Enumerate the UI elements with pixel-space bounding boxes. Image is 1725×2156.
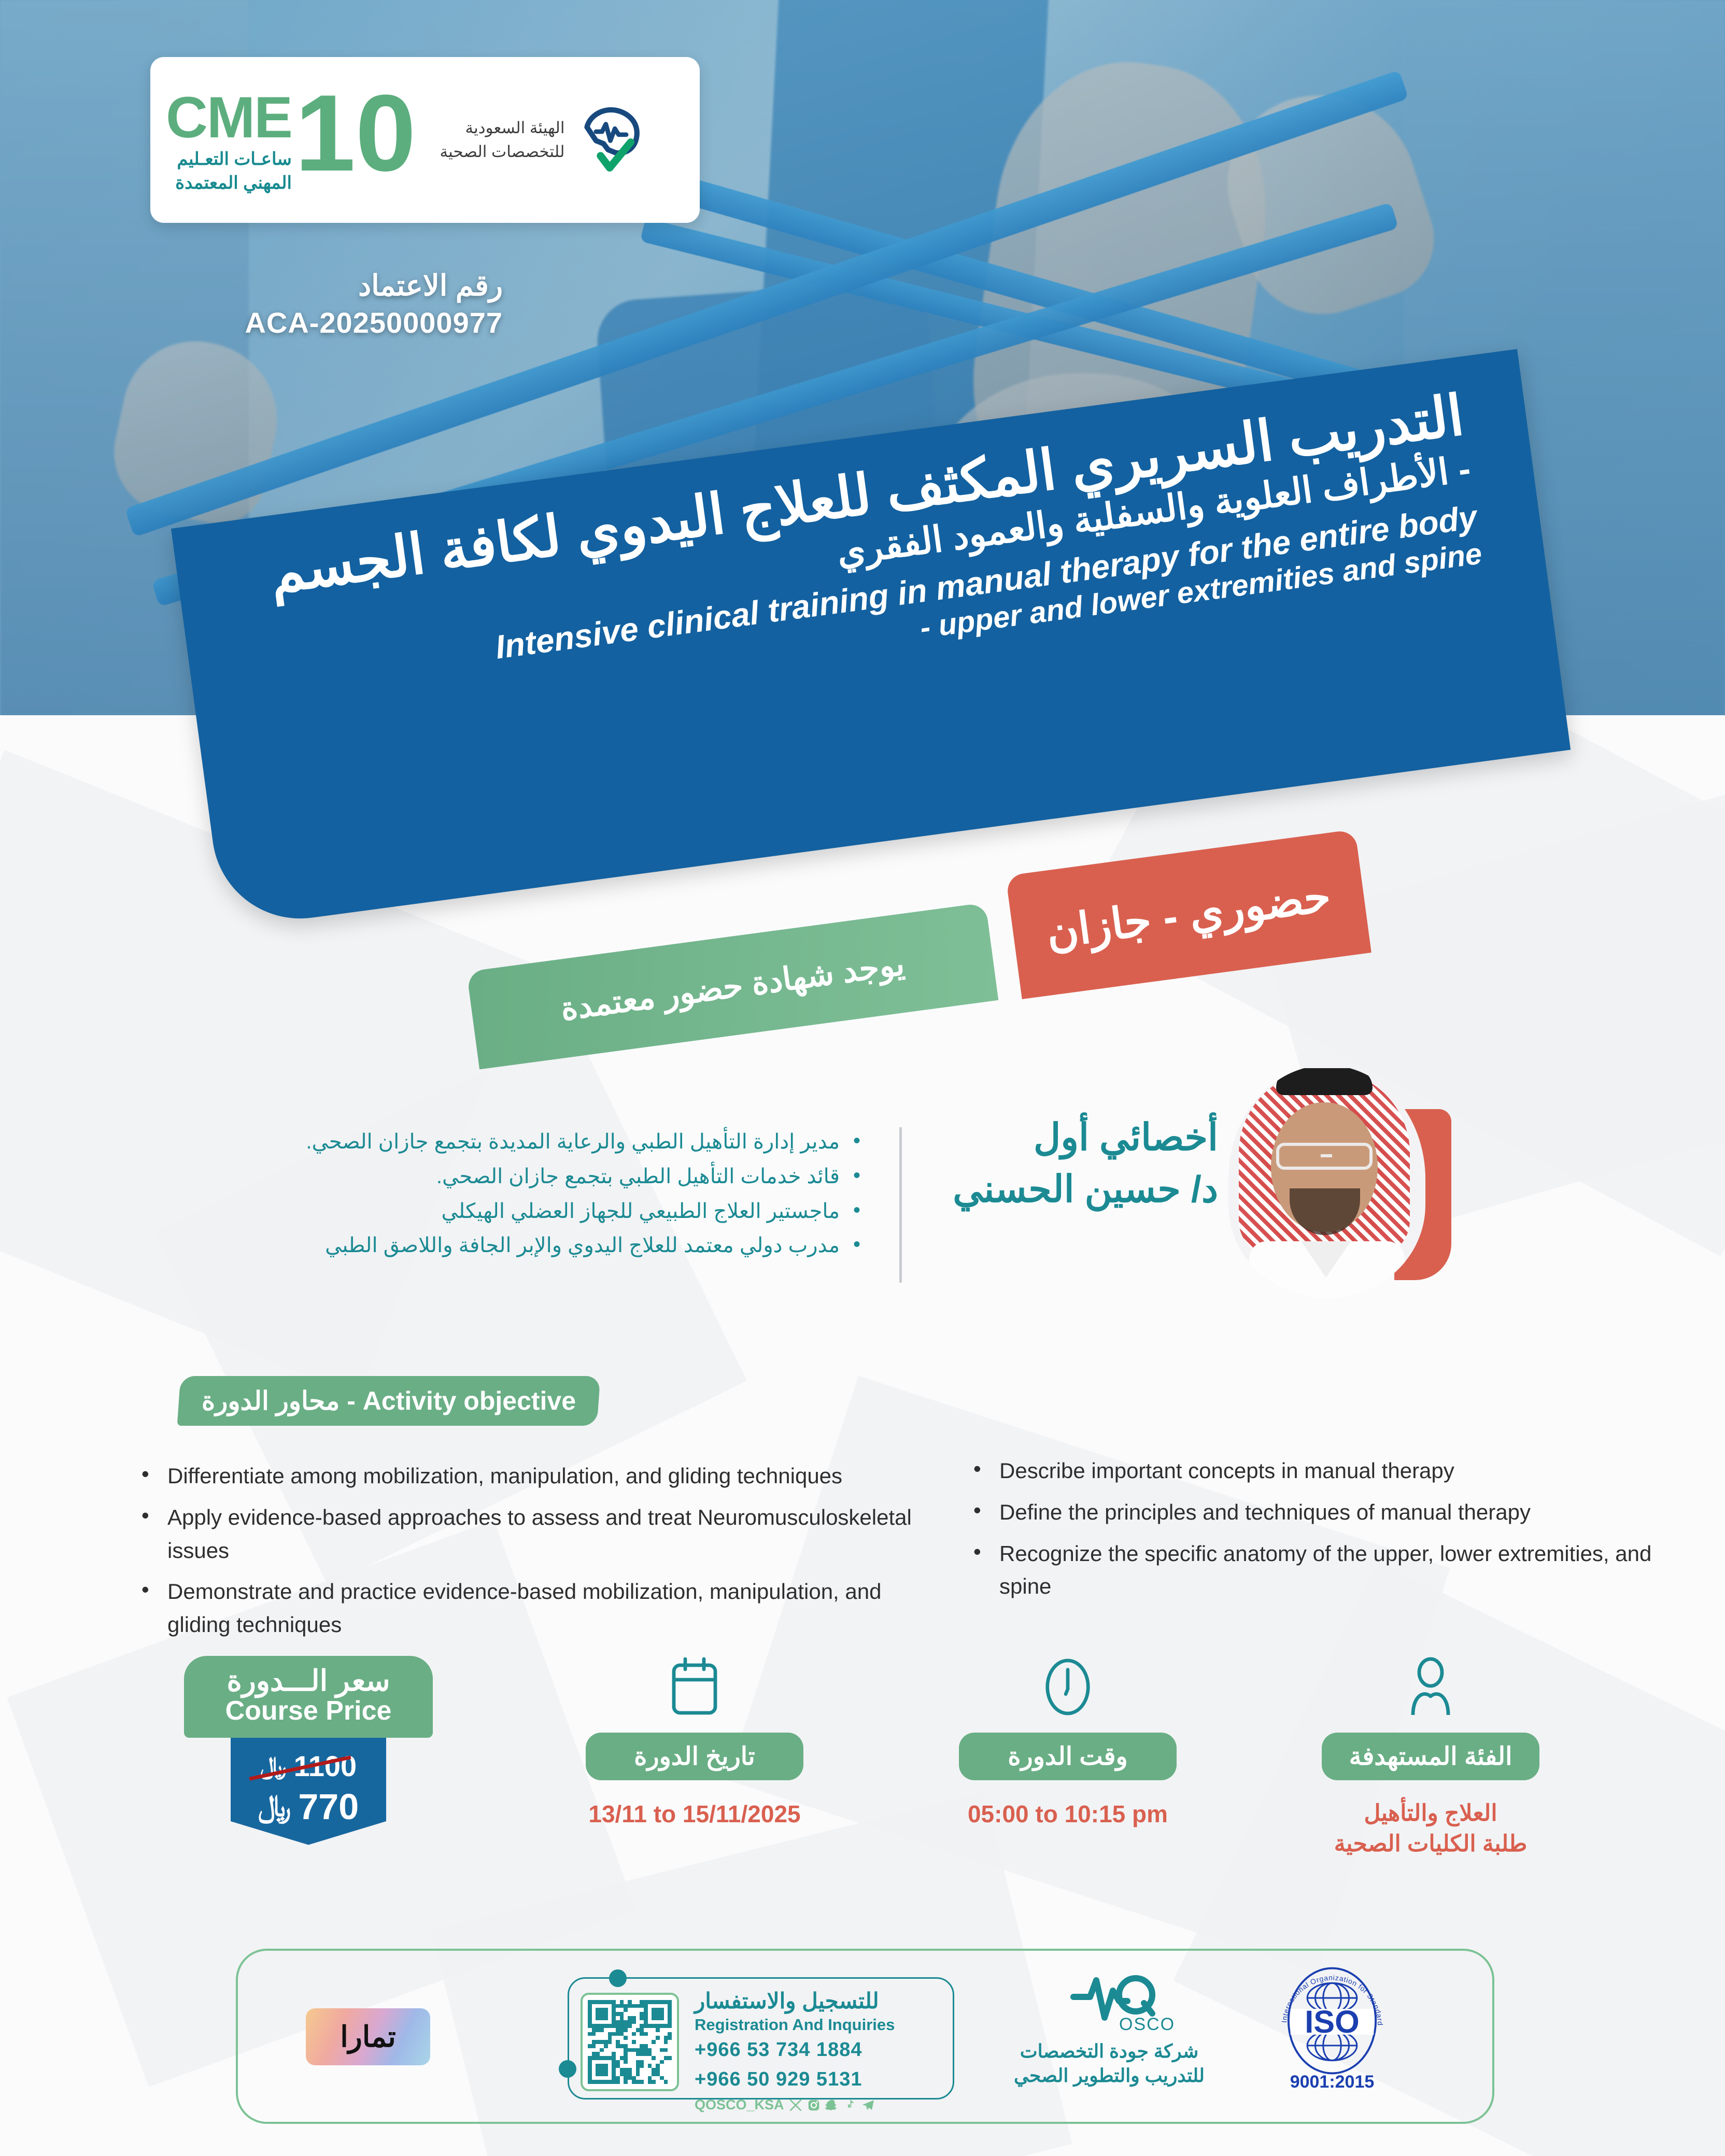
qosco-wordmark: OSCO	[1119, 2015, 1174, 2034]
cme-subtitle-line1: ساعـات التعـليم	[166, 149, 292, 169]
tiktok-icon[interactable]	[843, 2098, 857, 2112]
speaker-credentials-list: مدير إدارة التأهيل الطبي والرعاية المديد…	[244, 1125, 881, 1264]
scfhs-line1: الهيئة السعودية	[440, 116, 564, 140]
social-handles-row: QOSCO_KSA	[695, 2097, 917, 2113]
speaker-role: أخصائي أول	[928, 1114, 1218, 1161]
cme-subtitle-line2: المهني المعتمدة	[166, 173, 292, 193]
course-date-block: تاريخ الدورة 13/11 to 15/11/2025	[549, 1656, 840, 1830]
scfhs-line2: للتخصصات الصحية	[440, 140, 564, 164]
objective-item: Recognize the specific anatomy of the up…	[969, 1537, 1653, 1604]
registration-dot-icon	[559, 2060, 576, 2078]
cme-hours-count: 10	[295, 89, 416, 178]
credential-item: قائد خدمات التأهيل الطبي بتجمع جازان الص…	[244, 1160, 860, 1194]
registration-label-english: Registration And Inquiries	[695, 2015, 917, 2034]
credential-item: مدير إدارة التأهيل الطبي والرعاية المديد…	[244, 1125, 860, 1159]
registration-qr-code[interactable]	[581, 1993, 679, 2091]
iso-certification-badge: ISO International Organization for Stand…	[1254, 1964, 1410, 2092]
objective-item: Apply evidence-based approaches to asses…	[137, 1501, 915, 1567]
speaker-identity: أخصائي أول د/ حسين الحسني	[928, 1114, 1218, 1213]
x-icon[interactable]	[789, 2098, 802, 2112]
speaker-avatar	[1228, 1065, 1425, 1298]
accreditation-number-value: ACA-20250000977	[171, 306, 503, 339]
qosco-name-line2: للتدريب والتطوير الصحي	[985, 2064, 1234, 2088]
tamara-payment-logo: تمارا	[306, 2008, 430, 2065]
target-audience-line1: العلاج والتأهيل	[1285, 1798, 1576, 1828]
course-poster: CME ساعـات التعـليم المهني المعتمدة 10 ا…	[0, 0, 1725, 2156]
course-date-label: تاريخ الدورة	[586, 1733, 803, 1780]
price-tag: ﷼ 1100 ﷼ 770	[231, 1738, 386, 1845]
objective-item: Demonstrate and practice evidence-based …	[137, 1575, 915, 1641]
riyal-symbol-icon: ﷼	[258, 1789, 291, 1824]
registration-dot-icon	[609, 1969, 627, 1987]
glasses-icon	[1276, 1143, 1373, 1170]
price-label-arabic: سعر الـــدورة	[197, 1665, 419, 1696]
location-badge-label: حضوري - جازان	[1043, 870, 1334, 958]
price-header: سعر الـــدورة Course Price	[184, 1656, 433, 1738]
registration-label-arabic: للتسجيل والاستفسار	[695, 1989, 917, 2013]
cme-accreditation-badge: CME ساعـات التعـليم المهني المعتمدة 10 ا…	[150, 57, 700, 223]
iso-word-text: ISO	[1305, 2004, 1359, 2039]
objectives-tab-label: Activity objective - محاور الدورة	[202, 1386, 576, 1416]
speaker-name: د/ حسين الحسني	[928, 1166, 1218, 1213]
accreditation-number-label: رقم الاعتماد	[171, 269, 503, 302]
iso-logo-icon: ISO International Organization for Stand…	[1254, 1964, 1410, 2078]
objectives-list-left: Differentiate among mobilization, manipu…	[117, 1459, 915, 1650]
course-time-label: وقت الدورة	[959, 1733, 1177, 1780]
price-new: ﷼ 770	[231, 1786, 386, 1827]
course-time-value: 05:00 to 10:15 pm	[923, 1798, 1213, 1830]
qosco-name-line1: شركة جودة التخصصات	[985, 2039, 1234, 2064]
person-icon	[1285, 1656, 1576, 1718]
instagram-icon[interactable]	[807, 2098, 821, 2112]
objective-item: Describe important concepts in manual th…	[969, 1454, 1653, 1487]
registration-phone-1[interactable]: +966 53 734 1884	[695, 2036, 917, 2063]
registration-contact: للتسجيل والاستفسار Registration And Inqu…	[695, 1989, 917, 2113]
calendar-icon	[549, 1656, 840, 1718]
price-new-value: 770	[298, 1786, 359, 1827]
target-audience-value: العلاج والتأهيل طلبة الكليات الصحية	[1285, 1798, 1576, 1860]
scfhs-logo: الهيئة السعودية للتخصصات الصحية	[440, 98, 649, 181]
course-date-value: 13/11 to 15/11/2025	[549, 1798, 840, 1830]
credential-item: مدرب دولي معتمد للعلاج اليدوي والإبر الج…	[244, 1229, 860, 1263]
price-label-english: Course Price	[197, 1696, 419, 1726]
objectives-section-tab: Activity objective - محاور الدورة	[177, 1376, 601, 1426]
cme-label: CME	[166, 90, 292, 146]
objective-item: Define the principles and techniques of …	[969, 1496, 1653, 1529]
qosco-logo-icon: OSCO	[985, 1972, 1234, 2034]
target-audience-label: الفئة المستهدفة	[1322, 1733, 1539, 1780]
saudi-map-icon	[572, 98, 650, 181]
tamara-label: تمارا	[340, 2020, 396, 2054]
price-old: ﷼ 1100	[231, 1749, 386, 1783]
certificate-badge-label: يوجد شهادة حضور معتمدة	[558, 944, 907, 1028]
objective-item: Differentiate among mobilization, manipu…	[137, 1459, 915, 1493]
snapchat-icon[interactable]	[825, 2098, 839, 2112]
clock-icon	[923, 1656, 1213, 1718]
course-price-block: سعر الـــدورة Course Price ﷼ 1100 ﷼ 770	[184, 1656, 433, 1845]
telegram-icon[interactable]	[861, 2098, 875, 2112]
course-time-block: وقت الدورة 05:00 to 10:15 pm	[923, 1656, 1213, 1830]
qosco-company-block: OSCO شركة جودة التخصصات للتدريب والتطوير…	[985, 1972, 1234, 2088]
social-handle: QOSCO_KSA	[695, 2097, 784, 2113]
speaker-divider	[899, 1127, 902, 1283]
target-audience-line2: طلبة الكليات الصحية	[1285, 1828, 1576, 1859]
registration-phone-2[interactable]: +966 50 929 5131	[695, 2066, 917, 2093]
credential-item: ماجستير العلاج الطبيعي للجهاز العضلي اله…	[244, 1195, 860, 1228]
target-audience-block: الفئة المستهدفة العلاج والتأهيل طلبة الك…	[1285, 1656, 1576, 1860]
objectives-list-right: Describe important concepts in manual th…	[949, 1454, 1653, 1611]
accreditation-number-block: رقم الاعتماد ACA-20250000977	[171, 269, 503, 339]
